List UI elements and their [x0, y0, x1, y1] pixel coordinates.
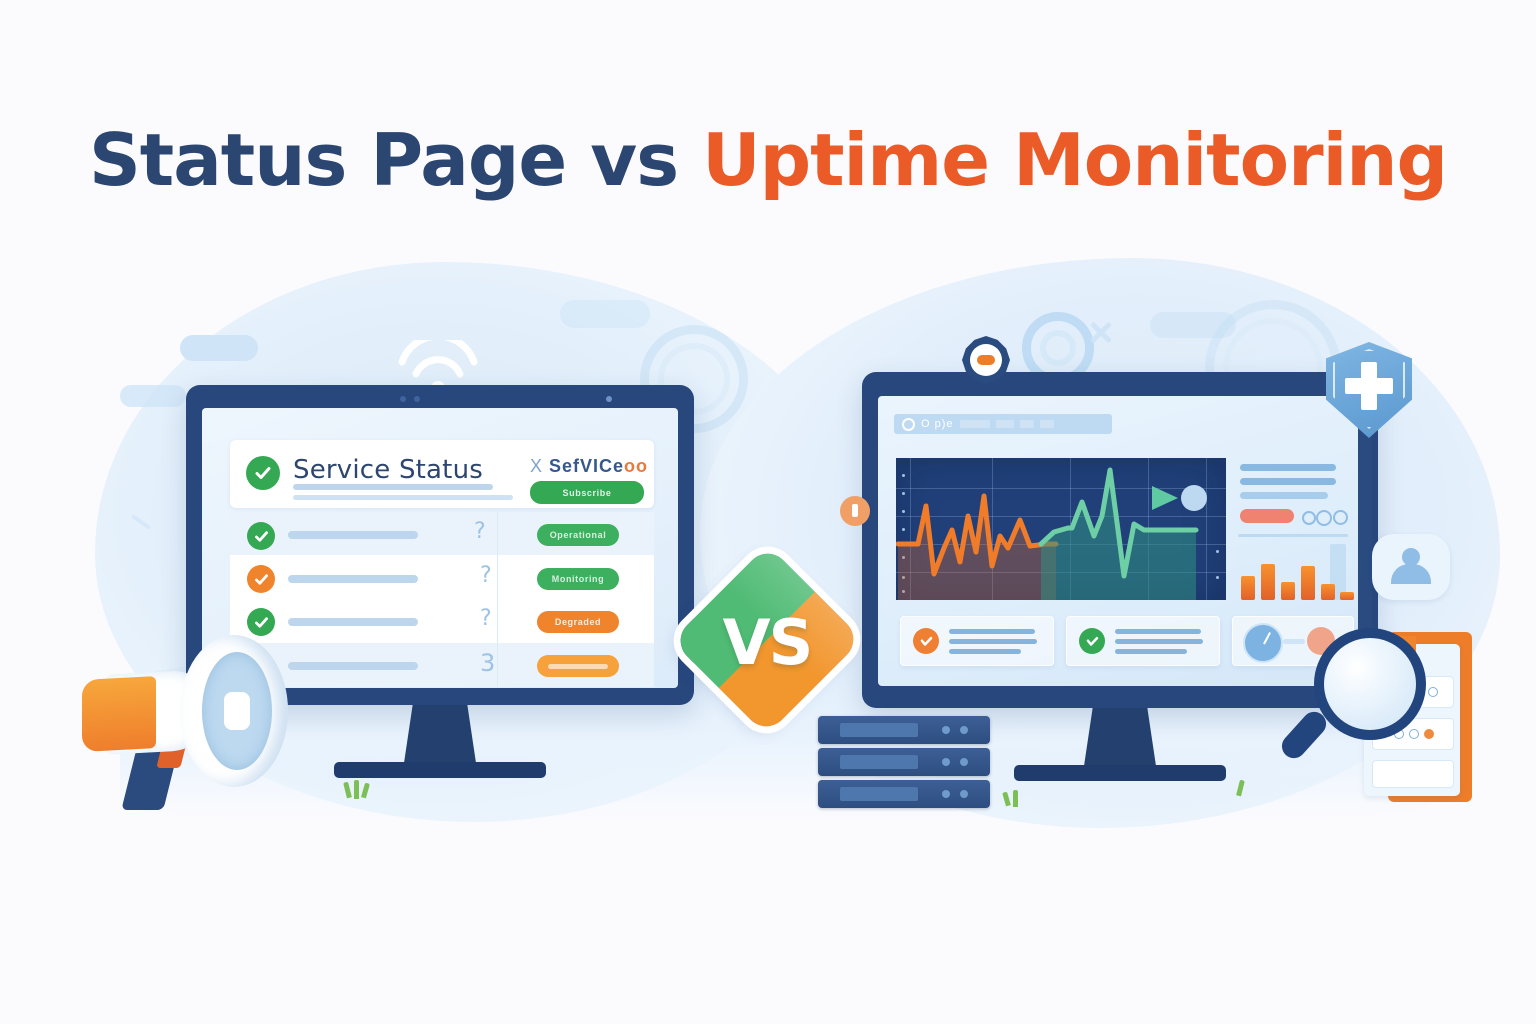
- cloud-icon: [180, 335, 258, 361]
- monitoring-chart: [896, 458, 1226, 600]
- vs-badge-label: VS: [686, 606, 848, 679]
- magnifier-icon: [1290, 628, 1410, 758]
- grass-decor: [354, 780, 359, 799]
- bar: [1321, 584, 1335, 600]
- status-badge: Operational: [537, 524, 619, 546]
- monitor-base-right: [1014, 765, 1226, 781]
- camera-dot: [400, 396, 406, 402]
- brand-logo: XSefVICeoo: [530, 456, 648, 477]
- skeleton-line: [293, 495, 513, 500]
- row-divider: [497, 512, 498, 555]
- row-divider: [497, 555, 498, 599]
- grass-decor: [1013, 790, 1018, 807]
- row-glyph: ?: [480, 563, 492, 588]
- row-label-skeleton: [288, 531, 418, 539]
- bar: [1281, 582, 1295, 600]
- megaphone-mouth: [202, 652, 272, 770]
- brand-name: SefVICe: [549, 456, 624, 476]
- url-skeleton: [996, 420, 1014, 428]
- panel-skeleton-line: [1240, 464, 1336, 471]
- bar: [1241, 576, 1255, 600]
- status-check-icon: [246, 456, 280, 490]
- play-triangle-icon: [1152, 486, 1178, 510]
- camera-dot: [606, 396, 612, 402]
- row-divider: [497, 643, 498, 687]
- shield-pole: [1358, 420, 1372, 630]
- row-glyph: ?: [480, 606, 492, 631]
- bar: [1340, 592, 1354, 600]
- row-label-skeleton: [288, 575, 418, 583]
- url-skeleton: [1020, 420, 1034, 428]
- megaphone-icon: [62, 630, 332, 815]
- panel-skeleton-line: [1240, 478, 1336, 485]
- panel-status-pill: [1240, 509, 1294, 523]
- status-badge-label: Degraded: [555, 617, 601, 627]
- status-check-icon: [1079, 628, 1105, 654]
- megaphone-cap: [82, 676, 156, 752]
- server-stack-icon: [818, 716, 996, 812]
- monitor-neck-right: [1084, 708, 1156, 766]
- row-divider: [497, 599, 498, 643]
- url-skeleton: [1040, 420, 1054, 428]
- metric-card[interactable]: [900, 616, 1054, 666]
- bar: [1301, 566, 1315, 600]
- status-badge: [537, 655, 619, 677]
- browser-url-bar[interactable]: O p)e: [894, 414, 1112, 434]
- chart-series-paths: [896, 458, 1226, 600]
- row-glyph: 3: [480, 649, 495, 677]
- row-label-skeleton: [288, 618, 418, 626]
- vs-badge: VS: [686, 562, 848, 722]
- status-warning-icon: [913, 628, 939, 654]
- camera-dot: [414, 396, 420, 402]
- panel-skeleton-line: [1240, 492, 1328, 499]
- status-check-icon: [247, 522, 275, 550]
- status-badge-label: Monitoring: [552, 574, 605, 584]
- round-marker-icon: [1181, 485, 1207, 511]
- status-badge: Monitoring: [537, 568, 619, 590]
- brand-suffix: oo: [624, 456, 648, 476]
- panel-divider: [1238, 534, 1348, 537]
- brand-x-mark: X: [530, 456, 543, 476]
- status-page-title: Service Status: [293, 455, 483, 485]
- status-warning-icon: [247, 565, 275, 593]
- subscribe-button[interactable]: Subscribe: [530, 481, 644, 504]
- skeleton-line: [293, 484, 493, 490]
- metric-card[interactable]: [1066, 616, 1220, 666]
- cloud-icon: [120, 385, 186, 407]
- monitor-base-left: [334, 762, 546, 778]
- title-orange-part: Uptime Monitoring: [702, 118, 1447, 202]
- shield-check-icon: [1326, 342, 1412, 438]
- row-glyph: ?: [474, 519, 486, 544]
- subscribe-label: Subscribe: [563, 488, 612, 498]
- url-skeleton: [960, 420, 990, 428]
- status-badge-bar: [548, 664, 607, 669]
- status-badge-label: Operational: [550, 530, 607, 540]
- url-text: O p)e: [921, 418, 954, 430]
- title-dark-part: Status Page vs: [89, 118, 702, 202]
- status-header-card: Service Status XSefVICeoo Subscribe: [230, 440, 654, 508]
- cloud-icon: [560, 300, 650, 328]
- speed-gauge-icon: [1243, 623, 1283, 663]
- bar: [1261, 564, 1275, 600]
- user-avatar-icon: [1372, 534, 1450, 600]
- circle-icon: [902, 418, 915, 431]
- clipboard-row: [1372, 760, 1454, 788]
- status-badge: Degraded: [537, 611, 619, 633]
- gear-badge-icon: [962, 336, 1010, 384]
- page-title: Status Page vs Uptime Monitoring: [0, 118, 1536, 202]
- lock-badge-icon: [840, 496, 870, 526]
- illustration-canvas: Status Page vs Uptime Monitoring Service…: [0, 0, 1536, 1024]
- monitor-neck-left: [404, 705, 476, 763]
- magnifier-lens: [1314, 628, 1426, 740]
